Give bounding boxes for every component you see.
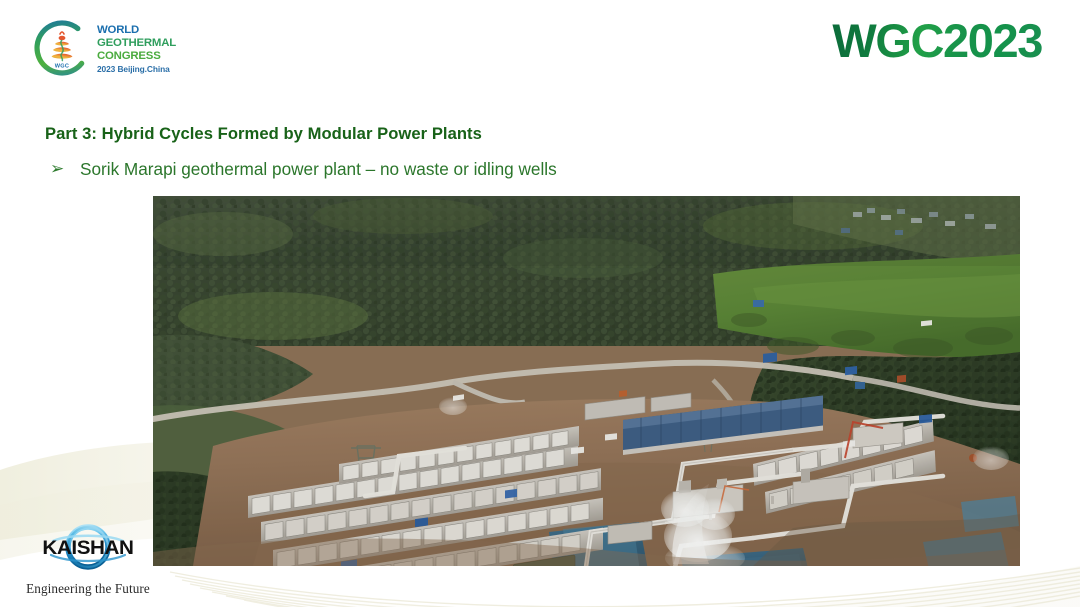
svg-text:KAISHAN: KAISHAN [42,538,133,559]
arrow-bullet-icon: ➢ [50,158,80,181]
kaishan-ring-icon: KAISHAN [23,521,153,573]
bullet-item-label: Sorik Marapi geothermal power plant – no… [80,158,557,180]
congress-logo-wordmark: WORLD GEOTHERMAL CONGRESS 2023 Beijing.C… [97,23,176,73]
congress-logo-line2: GEOTHERMAL [97,38,176,49]
slide-canvas: WGC WORLD GEOTHERMAL CONGRESS 2023 Beiji… [0,0,1080,607]
svg-text:WGC: WGC [55,64,70,70]
congress-logo-subtitle: 2023 Beijing.China [97,65,176,73]
wgc-congress-logo: WGC WORLD GEOTHERMAL CONGRESS 2023 Beiji… [34,16,174,80]
kaishan-tagline: Engineering the Future [14,581,162,597]
kaishan-logo-svg: KAISHAN [23,521,153,573]
page-title: Part 3: Hybrid Cycles Formed by Modular … [45,124,482,144]
bullet-list-item: ➢ Sorik Marapi geothermal power plant – … [50,158,557,181]
wgc-globe-ring-icon: WGC [34,20,90,76]
congress-logo-line1: WORLD [97,25,176,36]
photo-illustration-svg [153,196,1020,566]
wgc2023-wordmark: WGC2023 [832,17,1042,64]
wgc-logo-svg: WGC [34,20,90,76]
kaishan-logo: KAISHAN Engineering the Future [14,521,162,599]
geothermal-plant-photo [153,196,1020,566]
congress-logo-line3: CONGRESS [97,51,176,62]
